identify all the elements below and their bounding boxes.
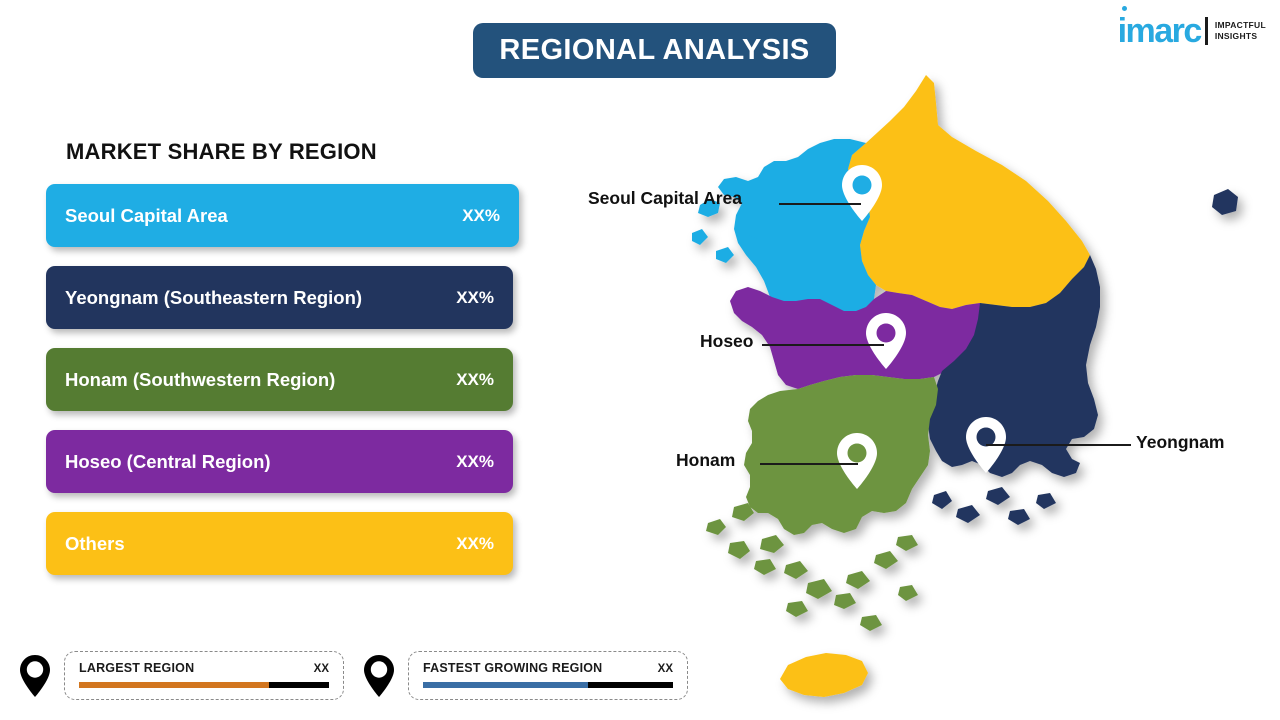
leader-line-yeongnam	[986, 444, 1131, 446]
largest-region-legend: LARGEST REGION XX	[18, 651, 344, 700]
region-label: Seoul Capital Area	[46, 205, 462, 227]
fastest-growing-region-legend: FASTEST GROWING REGION XX	[362, 651, 688, 700]
region-label: Honam (Southwestern Region)	[46, 369, 456, 391]
logo-tagline: IMPACTFUL INSIGHTS	[1215, 20, 1266, 43]
logo-divider	[1205, 17, 1208, 45]
region-value: XX%	[456, 288, 513, 308]
map-island-jeju[interactable]	[780, 653, 868, 697]
logo-wordmark-text: imarc	[1118, 12, 1201, 50]
market-share-bar[interactable]: Hoseo (Central Region) XX%	[46, 430, 513, 493]
map-label-honam: Honam	[676, 450, 735, 471]
map-label-yeongnam: Yeongnam	[1136, 432, 1225, 453]
market-share-bar[interactable]: Yeongnam (Southeastern Region) XX%	[46, 266, 513, 329]
region-value: XX%	[456, 370, 513, 390]
region-label: Hoseo (Central Region)	[46, 451, 456, 473]
leader-line-seoul	[779, 203, 861, 205]
largest-region-label: LARGEST REGION	[79, 661, 194, 675]
map-label-seoul: Seoul Capital Area	[588, 188, 742, 209]
fastest-growing-region-box: FASTEST GROWING REGION XX	[408, 651, 688, 700]
map-svg	[690, 55, 1270, 715]
map-pin-icon	[18, 654, 52, 698]
logo-tagline-line1: IMPACTFUL	[1215, 20, 1266, 31]
market-share-bar[interactable]: Honam (Southwestern Region) XX%	[46, 348, 513, 411]
region-label: Yeongnam (Southeastern Region)	[46, 287, 456, 309]
map-island-ulleungdo[interactable]	[1212, 189, 1238, 215]
market-share-heading: MARKET SHARE BY REGION	[66, 139, 377, 165]
largest-region-box: LARGEST REGION XX	[64, 651, 344, 700]
logo-wordmark: imarc	[1118, 14, 1201, 48]
region-value: XX%	[456, 452, 513, 472]
largest-region-value: XX	[296, 663, 329, 675]
imarc-logo: imarc IMPACTFUL INSIGHTS	[1118, 14, 1266, 48]
fastest-growing-region-label: FASTEST GROWING REGION	[423, 661, 602, 675]
map-island-west-small-1	[692, 229, 708, 245]
leader-line-honam	[760, 463, 858, 465]
map-islands-yeongnam-coast	[932, 487, 1056, 525]
region-value: XX%	[462, 206, 519, 226]
map-pin-icon	[362, 654, 396, 698]
map-region-others[interactable]	[848, 75, 1090, 309]
largest-region-progress-fill	[79, 682, 269, 688]
fastest-growing-region-value: XX	[640, 663, 673, 675]
logo-tagline-line2: INSIGHTS	[1215, 31, 1266, 42]
map-island-west-small-2	[716, 247, 734, 263]
south-korea-region-map	[690, 55, 1270, 715]
logo-dot-icon	[1122, 6, 1127, 11]
region-label: Others	[46, 533, 456, 555]
map-label-hoseo: Hoseo	[700, 331, 753, 352]
fastest-growing-region-progress-fill	[423, 682, 588, 688]
leader-line-hoseo	[762, 344, 884, 346]
largest-region-progress-track	[79, 682, 329, 688]
market-share-bar-list: Seoul Capital Area XX% Yeongnam (Southea…	[46, 184, 526, 594]
fastest-growing-region-progress-track	[423, 682, 673, 688]
market-share-bar[interactable]: Seoul Capital Area XX%	[46, 184, 519, 247]
market-share-bar[interactable]: Others XX%	[46, 512, 513, 575]
region-value: XX%	[456, 534, 513, 554]
